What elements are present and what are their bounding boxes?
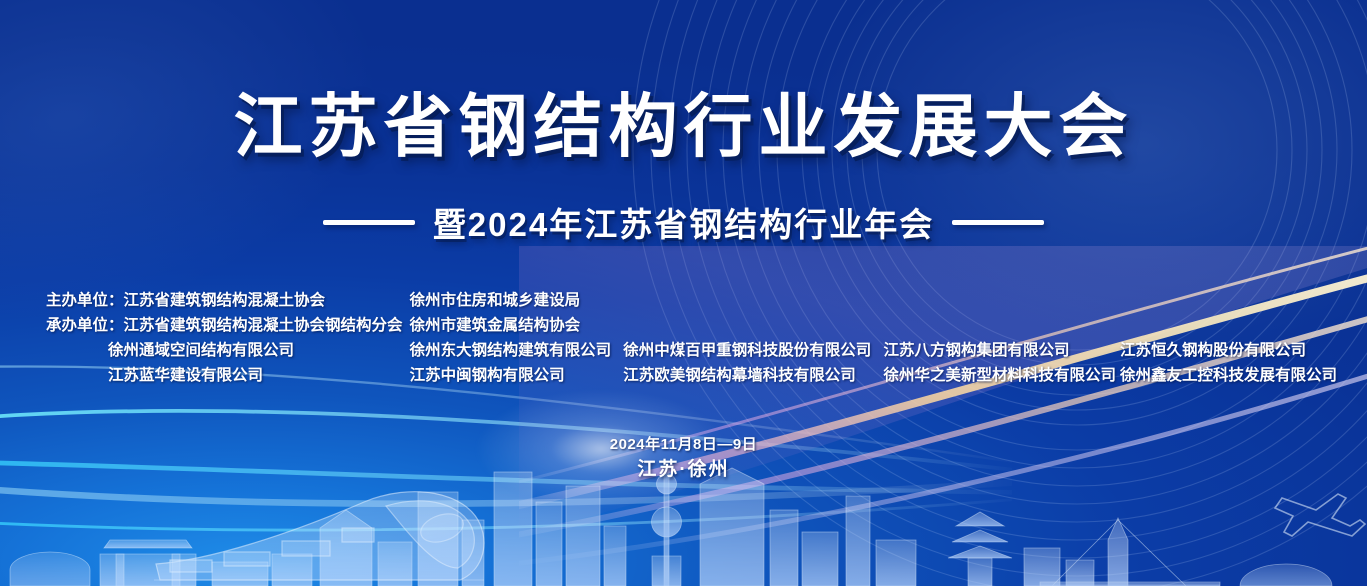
event-location: 江苏·徐州 <box>0 456 1367 484</box>
page-subtitle: 暨2024年江苏省钢结构行业年会 <box>433 198 934 246</box>
event-date: 2024年11月8日—9日 <box>0 434 1367 456</box>
organizer-line: 徐州华之美新型材料科技有限公司 <box>884 363 1120 388</box>
organizer-line: 江苏中闽钢构有限公司 <box>410 363 624 388</box>
conference-banner: 江苏省钢结构行业发展大会 暨2024年江苏省钢结构行业年会 主办单位：江苏省建筑… <box>0 0 1367 586</box>
organizer-column-5: 江苏恒久钢构股份有限公司 江苏恒久钢构股份有限公司 江苏恒久钢构股份有限公司 徐… <box>1120 288 1337 388</box>
page-title: 江苏省钢结构行业发展大会 <box>0 92 1367 161</box>
organizer-line: 徐州市建筑金属结构协会 <box>410 313 624 338</box>
organizer-line: 主办单位：江苏省建筑钢结构混凝土协会 <box>46 288 410 313</box>
banner-content: 江苏省钢结构行业发展大会 暨2024年江苏省钢结构行业年会 主办单位：江苏省建筑… <box>0 0 1367 586</box>
organizer-line: 徐州通域空间结构有限公司 <box>46 338 410 363</box>
organizer-line: 江苏蓝华建设有限公司 <box>46 363 410 388</box>
organizer-line: 徐州市住房和城乡建设局 <box>410 288 624 313</box>
event-date-location: 2024年11月8日—9日 江苏·徐州 <box>0 434 1367 484</box>
organizer-line: 徐州东大钢结构建筑有限公司 <box>410 338 624 363</box>
organizer-column-1: 主办单位：江苏省建筑钢结构混凝土协会 承办单位：江苏省建筑钢结构混凝土协会钢结构… <box>46 288 410 388</box>
organizer-line: 江苏欧美钢结构幕墙科技有限公司 <box>623 363 883 388</box>
subtitle-rule-right <box>952 220 1044 225</box>
organizer-line: 江苏恒久钢构股份有限公司 <box>1120 338 1337 363</box>
organizer-line: 徐州鑫友工控科技发展有限公司 <box>1120 363 1337 388</box>
organizer-line: 江苏八方钢构集团有限公司 <box>884 338 1120 363</box>
subtitle-row: 暨2024年江苏省钢结构行业年会 <box>0 198 1367 246</box>
organizer-line: 承办单位：江苏省建筑钢结构混凝土协会钢结构分会 <box>46 313 410 338</box>
organizer-column-3: 徐州中煤百甲重钢科技股份有限公司 徐州中煤百甲重钢科技股份有限公司 徐州中煤百甲… <box>623 288 883 388</box>
organizer-line: 徐州中煤百甲重钢科技股份有限公司 <box>623 338 883 363</box>
organizers-block: 主办单位：江苏省建筑钢结构混凝土协会 承办单位：江苏省建筑钢结构混凝土协会钢结构… <box>46 288 1337 388</box>
subtitle-rule-left <box>323 220 415 225</box>
organizer-column-4: 江苏八方钢构集团有限公司 江苏八方钢构集团有限公司 江苏八方钢构集团有限公司 徐… <box>884 288 1120 388</box>
organizer-column-2: 徐州市住房和城乡建设局 徐州市建筑金属结构协会 徐州东大钢结构建筑有限公司 江苏… <box>410 288 624 388</box>
